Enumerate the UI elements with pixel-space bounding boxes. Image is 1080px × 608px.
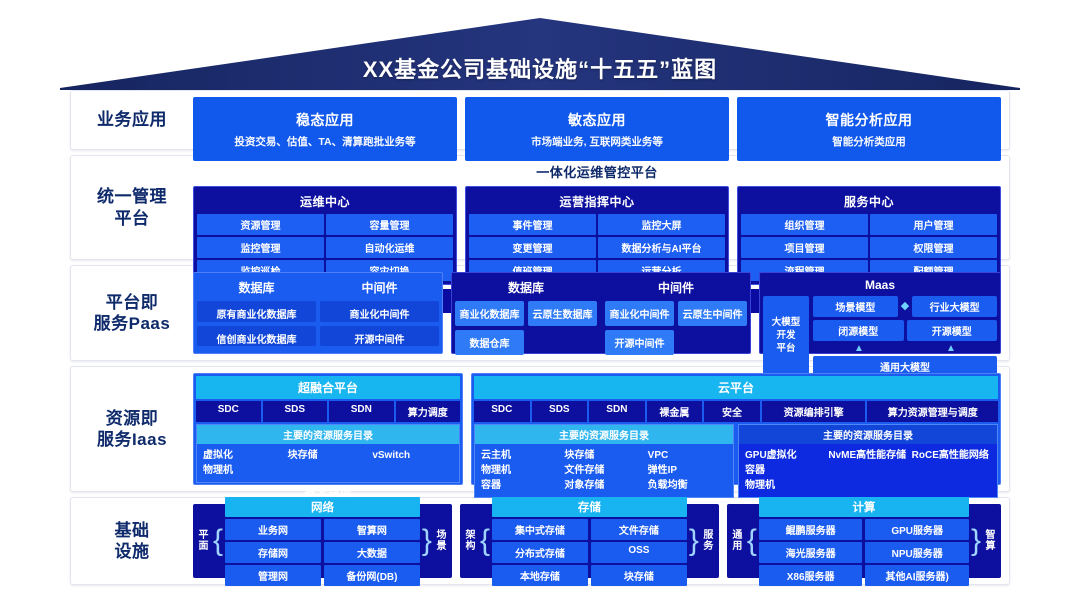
iaas-tag[interactable]: 资源编排引擎 (762, 401, 866, 422)
infra-item[interactable]: 备份网(DB) (324, 565, 420, 586)
infra-content: 网络 业务网 智算网 存储网 大数据 管理网 备份网(DB (225, 497, 420, 586)
iaas-catalog-item: 文件存储 (564, 463, 643, 478)
app-title: 智能分析应用 (826, 110, 913, 130)
maas-left-line2: 开发 (772, 330, 801, 343)
paas-item[interactable]: 商业化中间件 (320, 301, 439, 322)
paas-item-empty (678, 330, 747, 355)
infra-right-line2: 景 (434, 541, 449, 552)
infra-item[interactable]: 分布式存储 (492, 542, 588, 563)
infra-row: 管理网 备份网(DB) (225, 565, 420, 586)
maas-dev-platform[interactable]: 大模型 开发 平台 (763, 296, 809, 377)
maas-item-industry-model[interactable]: 行业大模型 (912, 296, 997, 317)
app-card-agile[interactable]: 敏态应用 市场端业务, 互联网类业务等 (465, 97, 729, 161)
iaas-catalog-col: 虚拟化 物理机 (203, 448, 284, 478)
iaas-catalog-item: 块存储 (564, 448, 643, 463)
app-subtitle: 投资交易、估值、TA、清算跑批业务等 (234, 134, 415, 149)
infra-item[interactable]: 存储网 (225, 542, 321, 563)
infra-left-line1: 平 (196, 530, 211, 541)
row-paas: 平台即 服务Paas 数据库 原有商业化数据库 信创商业化数据库 中间件 (70, 265, 1010, 361)
paas-item[interactable]: 商业化数据库 (455, 301, 524, 326)
infra-right-label: 服 务 (701, 530, 716, 552)
iaas-catalog-item: 物理机 (745, 478, 824, 493)
iaas-catalog-col: 块存储 (288, 448, 369, 478)
iaas-catalog-title: 主要的资源服务目录 (475, 425, 733, 444)
infra-item[interactable]: 大数据 (324, 542, 420, 563)
infra-item[interactable]: 鲲鹏服务器 (759, 519, 863, 540)
iaas-catalog-wrap: 主要的资源服务目录 云主机 物理机 容器 块存储 文 (474, 424, 998, 498)
iaas-catalog-ai: 主要的资源服务目录 GPU虚拟化 容器 物理机 NvME高性能存储 (738, 424, 998, 498)
iaas-card-cloud-platform: 云平台 SDC SDS SDN 裸金属 安全 资源编排引擎 算力资源管理与调度 (471, 373, 1001, 485)
row-label-infrastructure: 基础 设施 (71, 498, 193, 584)
maas-item-scene-model[interactable]: 场景模型 (813, 296, 898, 317)
paas-item[interactable]: 云原生中间件 (678, 301, 747, 326)
infra-row: X86服务器 其他AI服务器) (759, 565, 969, 586)
iaas-catalog-item: 块存储 (288, 448, 369, 463)
row-label-line1: 基础 (115, 520, 150, 541)
iaas-catalog-item: 物理机 (203, 463, 284, 478)
infra-left-label: 架 构 (463, 530, 478, 552)
row-label-line2: 服务Iaas (97, 429, 167, 450)
paas-item[interactable]: 信创商业化数据库 (197, 326, 316, 347)
infra-left-line2: 构 (463, 541, 478, 552)
infra-item[interactable]: 本地存储 (492, 565, 588, 586)
infra-item[interactable]: 其他AI服务器) (865, 565, 969, 586)
center-item[interactable]: 资源管理 (197, 214, 324, 235)
iaas-catalog-item: 容器 (481, 478, 560, 493)
infra-header: 网络 (225, 497, 420, 517)
brace-left-icon: { (480, 532, 490, 550)
iaas-card-hyperconverged: 超融合平台 SDC SDS SDN 算力调度 主要的资源服务目录 (193, 373, 463, 485)
infra-left-line1: 架 (463, 530, 478, 541)
infra-row: 分布式存储 OSS (492, 542, 687, 563)
infra-block-storage: 架 构 { 存储 集中式存储 文件存储 分布式存储 (460, 504, 719, 578)
arrow-left-right-icon: ◆ (901, 301, 909, 312)
iaas-catalog-item: RoCE高性能网络 (912, 448, 991, 463)
iaas-catalog-col: VPC 弹性IP 负载均衡 (648, 448, 727, 493)
infra-header: 存储 (492, 497, 687, 517)
row-unified-management: 统一管理 平台 一体化运维管控平台 运维中心 资源管理 容量管理 监控管理 自动… (70, 155, 1010, 260)
paas-sub-middleware: 中间件 商业化中间件 开源中间件 (320, 276, 439, 350)
iaas-catalog-col: RoCE高性能网络 (912, 448, 991, 493)
infra-item[interactable]: OSS (591, 542, 687, 563)
app-card-intelligent-analysis[interactable]: 智能分析应用 智能分析类应用 (737, 97, 1001, 161)
center-title: 服务中心 (741, 190, 997, 214)
infra-item[interactable]: X86服务器 (759, 565, 863, 586)
iaas-card-header: 云平台 (474, 376, 998, 399)
row-label-iaas: 资源即 服务Iaas (71, 367, 193, 491)
infra-content: 存储 集中式存储 文件存储 分布式存储 OSS 本地存储 (492, 497, 687, 586)
iaas-catalog-item: 云主机 (481, 448, 560, 463)
iaas-catalog-body: 云主机 物理机 容器 块存储 文件存储 对象存储 (475, 444, 733, 497)
center-item[interactable]: 变更管理 (469, 237, 596, 258)
maas-title: Maas (763, 276, 997, 296)
center-title: 运营指挥中心 (469, 190, 725, 214)
center-title: 运维中心 (197, 190, 453, 214)
iaas-catalog-title: 主要的资源服务目录 (197, 425, 459, 444)
row-body-unified: 一体化运维管控平台 运维中心 资源管理 容量管理 监控管理 自动化运维 监控巡检… (193, 156, 1009, 259)
infra-item[interactable]: GPU服务器 (865, 519, 969, 540)
iaas-tag[interactable]: 安全 (704, 401, 760, 422)
iaas-catalog-item: 物理机 (481, 463, 560, 478)
paas-sub-middleware-cloud: 中间件 商业化中间件 云原生中间件 开源中间件 (605, 276, 747, 350)
paas-sub-database: 数据库 原有商业化数据库 信创商业化数据库 (197, 276, 316, 350)
infra-right-label: 场 景 (434, 530, 449, 552)
infra-block-network: 平 面 { 网络 业务网 智算网 存储网 大数据 (193, 504, 452, 578)
row-body-business: 稳态应用 投资交易、估值、TA、清算跑批业务等 敏态应用 市场端业务, 互联网类… (193, 91, 1009, 149)
iaas-catalog-general: 主要的资源服务目录 云主机 物理机 容器 块存储 文 (474, 424, 734, 498)
iaas-catalog-col: NvME高性能存储 (828, 448, 907, 493)
center-item[interactable]: 数据分析与AI平台 (598, 237, 725, 258)
paas-sub-title: 中间件 (320, 276, 439, 301)
brace-right-icon: } (971, 532, 981, 550)
iaas-tag[interactable]: 裸金属 (647, 401, 703, 422)
infra-left-label: 通 用 (730, 530, 745, 552)
infra-item[interactable]: 管理网 (225, 565, 321, 586)
paas-sub-database-cloud: 数据库 商业化数据库 云原生数据库 数据仓库 (455, 276, 597, 350)
infra-item[interactable]: 智算网 (324, 519, 420, 540)
paas-item[interactable]: 云原生数据库 (528, 301, 597, 326)
paas-item[interactable]: 商业化中间件 (605, 301, 674, 326)
iaas-catalog: 主要的资源服务目录 虚拟化 物理机 块存储 (196, 424, 460, 483)
infra-right-line1: 服 (701, 530, 716, 541)
iaas-catalog-item: NvME高性能存储 (828, 448, 907, 463)
iaas-catalog-item: 容器 (745, 463, 824, 478)
paas-group-traditional: 数据库 原有商业化数据库 信创商业化数据库 中间件 商业化中间件 开源中间件 (193, 272, 443, 354)
row-label-line1: 统一管理 (97, 186, 167, 207)
paas-item[interactable]: 原有商业化数据库 (197, 301, 316, 322)
paas-item[interactable]: 开源中间件 (320, 326, 439, 347)
brace-left-icon: { (747, 532, 757, 550)
iaas-tag[interactable]: SDN (589, 401, 645, 422)
arrow-up-icon: ▲ (854, 344, 864, 354)
iaas-catalog-wrap: 主要的资源服务目录 虚拟化 物理机 块存储 (196, 424, 460, 483)
iaas-tag[interactable]: SDC (196, 401, 261, 422)
iaas-catalog-col: GPU虚拟化 容器 物理机 (745, 448, 824, 493)
iaas-tag[interactable]: 算力资源管理与调度 (867, 401, 998, 422)
row-infrastructure: 基础 设施 平 面 { 网络 (70, 497, 1010, 585)
infra-right-line1: 场 (434, 530, 449, 541)
paas-sub-title: 中间件 (605, 276, 747, 301)
center-item[interactable]: 组织管理 (741, 214, 868, 235)
row-business-application: 业务应用 稳态应用 投资交易、估值、TA、清算跑批业务等 敏态应用 市场端业务,… (70, 90, 1010, 150)
infra-right-line1: 智 (983, 530, 998, 541)
center-item[interactable]: 容量管理 (326, 214, 453, 235)
row-body-iaas: 超融合平台 SDC SDS SDN 算力调度 主要的资源服务目录 (193, 367, 1009, 491)
iaas-catalog-col: 云主机 物理机 容器 (481, 448, 560, 493)
maas-block: Maas 大模型 开发 平台 场景模型 (759, 272, 1001, 354)
row-label-line2: 服务Paas (94, 313, 171, 334)
infra-row: 集中式存储 文件存储 (492, 519, 687, 540)
app-subtitle: 智能分析类应用 (832, 134, 906, 149)
center-item[interactable]: 项目管理 (741, 237, 868, 258)
iaas-tag-list: SDC SDS SDN 裸金属 安全 资源编排引擎 算力资源管理与调度 (474, 401, 998, 422)
infra-item[interactable]: 海光服务器 (759, 542, 863, 563)
iaas-catalog-item: 虚拟化 (203, 448, 284, 463)
iaas-catalog-col: vSwitch (372, 448, 453, 478)
row-label-line2: 设施 (115, 541, 150, 562)
row-body-paas: 数据库 原有商业化数据库 信创商业化数据库 中间件 商业化中间件 开源中间件 (193, 266, 1009, 360)
center-item[interactable]: 事件管理 (469, 214, 596, 235)
infra-row: 海光服务器 NPU服务器 (759, 542, 969, 563)
layer-stack: 业务应用 稳态应用 投资交易、估值、TA、清算跑批业务等 敏态应用 市场端业务,… (70, 90, 1010, 590)
iaas-tag-list: SDC SDS SDN 算力调度 (196, 401, 460, 422)
brace-left-icon: { (213, 532, 223, 550)
infra-right-line2: 务 (701, 541, 716, 552)
maas-left-line1: 大模型 (772, 317, 801, 330)
center-item[interactable]: 监控管理 (197, 237, 324, 258)
row-label-paas: 平台即 服务Paas (71, 266, 193, 360)
row-label-unified: 统一管理 平台 (71, 156, 193, 259)
infra-content: 计算 鲲鹏服务器 GPU服务器 海光服务器 NPU服务器 X86服务器 (759, 497, 969, 586)
infra-left-line2: 用 (730, 541, 745, 552)
center-item[interactable]: 自动化运维 (326, 237, 453, 258)
infra-left-line1: 通 (730, 530, 745, 541)
iaas-tag[interactable]: SDS (263, 401, 328, 422)
iaas-catalog-title: 主要的资源服务目录 (739, 425, 997, 444)
row-body-infrastructure: 平 面 { 网络 业务网 智算网 存储网 大数据 (193, 498, 1009, 584)
paas-item-empty (528, 330, 597, 355)
row-label-line1: 资源即 (97, 408, 167, 429)
iaas-tag[interactable]: SDS (532, 401, 588, 422)
iaas-catalog-item: GPU虚拟化 (745, 448, 824, 463)
paas-sub-title: 数据库 (197, 276, 316, 301)
app-title: 稳态应用 (296, 110, 354, 130)
unified-platform-title: 一体化运维管控平台 (193, 162, 1001, 181)
center-item[interactable]: 监控大屏 (598, 214, 725, 235)
iaas-tag[interactable]: SDC (474, 401, 530, 422)
iaas-catalog-body: 虚拟化 物理机 块存储 vSwitch (197, 444, 459, 482)
paas-item[interactable]: 数据仓库 (455, 330, 524, 355)
maas-item-open-source[interactable]: 开源模型 (907, 320, 998, 341)
infra-block-compute: 通 用 { 计算 鲲鹏服务器 GPU服务器 海光服务器 (727, 504, 1001, 578)
infra-right-line2: 算 (983, 541, 998, 552)
infra-row: 存储网 大数据 (225, 542, 420, 563)
arrow-up-icon: ▲ (946, 344, 956, 354)
app-card-stable[interactable]: 稳态应用 投资交易、估值、TA、清算跑批业务等 (193, 97, 457, 161)
row-label-line1: 平台即 (94, 292, 171, 313)
paas-item[interactable]: 开源中间件 (605, 330, 674, 355)
iaas-catalog-item: 对象存储 (564, 478, 643, 493)
roof-banner: XX基金公司基础设施“十五五”蓝图 (60, 18, 1020, 90)
center-item[interactable]: 用户管理 (870, 214, 997, 235)
iaas-tag[interactable]: 算力调度 (396, 401, 461, 422)
maas-model-tree: 场景模型 ◆ 行业大模型 闭源模型 开源模型 ▲ (813, 296, 997, 377)
infra-left-label: 平 面 (196, 530, 211, 552)
iaas-tag[interactable]: SDN (329, 401, 394, 422)
infra-item[interactable]: NPU服务器 (865, 542, 969, 563)
row-label-line2: 平台 (97, 208, 167, 229)
infra-item[interactable]: 集中式存储 (492, 519, 588, 540)
infra-row: 鲲鹏服务器 GPU服务器 (759, 519, 969, 540)
infra-right-label: 智 算 (983, 530, 998, 552)
infra-header: 计算 (759, 497, 969, 517)
maas-row-source: 闭源模型 开源模型 (813, 320, 997, 341)
iaas-catalog-item: 负载均衡 (648, 478, 727, 493)
iaas-catalog-item: VPC (648, 448, 727, 463)
maas-item-closed-source[interactable]: 闭源模型 (813, 320, 904, 341)
iaas-catalog-item: 弹性IP (648, 463, 727, 478)
app-title: 敏态应用 (568, 110, 626, 130)
infra-left-line2: 面 (196, 541, 211, 552)
infra-item[interactable]: 块存储 (591, 565, 687, 586)
brace-right-icon: } (689, 532, 699, 550)
infra-item[interactable]: 文件存储 (591, 519, 687, 540)
infra-row: 业务网 智算网 (225, 519, 420, 540)
iaas-card-header: 超融合平台 (196, 376, 460, 399)
maas-up-arrows: ▲ ▲ (813, 344, 997, 353)
center-item[interactable]: 权限管理 (870, 237, 997, 258)
paas-sub-title: 数据库 (455, 276, 597, 301)
iaas-catalog-body: GPU虚拟化 容器 物理机 NvME高性能存储 RoCE高性能网络 (739, 444, 997, 497)
app-subtitle: 市场端业务, 互联网类业务等 (531, 134, 663, 149)
row-label-business: 业务应用 (71, 91, 193, 149)
maas-row-scene: 场景模型 ◆ 行业大模型 (813, 296, 997, 317)
iaas-catalog-item: vSwitch (372, 448, 453, 463)
infra-row: 本地存储 块存储 (492, 565, 687, 586)
paas-group-cloud-native: 数据库 商业化数据库 云原生数据库 数据仓库 中间件 (451, 272, 751, 354)
row-iaas: 资源即 服务Iaas 超融合平台 SDC SDS SDN 算力调度 (70, 366, 1010, 492)
maas-left-line3: 平台 (772, 343, 801, 356)
page-title: XX基金公司基础设施“十五五”蓝图 (60, 18, 1020, 90)
infra-item[interactable]: 业务网 (225, 519, 321, 540)
brace-right-icon: } (422, 532, 432, 550)
blueprint-page: XX基金公司基础设施“十五五”蓝图 业务应用 稳态应用 投资交易、估值、TA、清… (0, 0, 1080, 608)
iaas-catalog-col: 块存储 文件存储 对象存储 (564, 448, 643, 493)
